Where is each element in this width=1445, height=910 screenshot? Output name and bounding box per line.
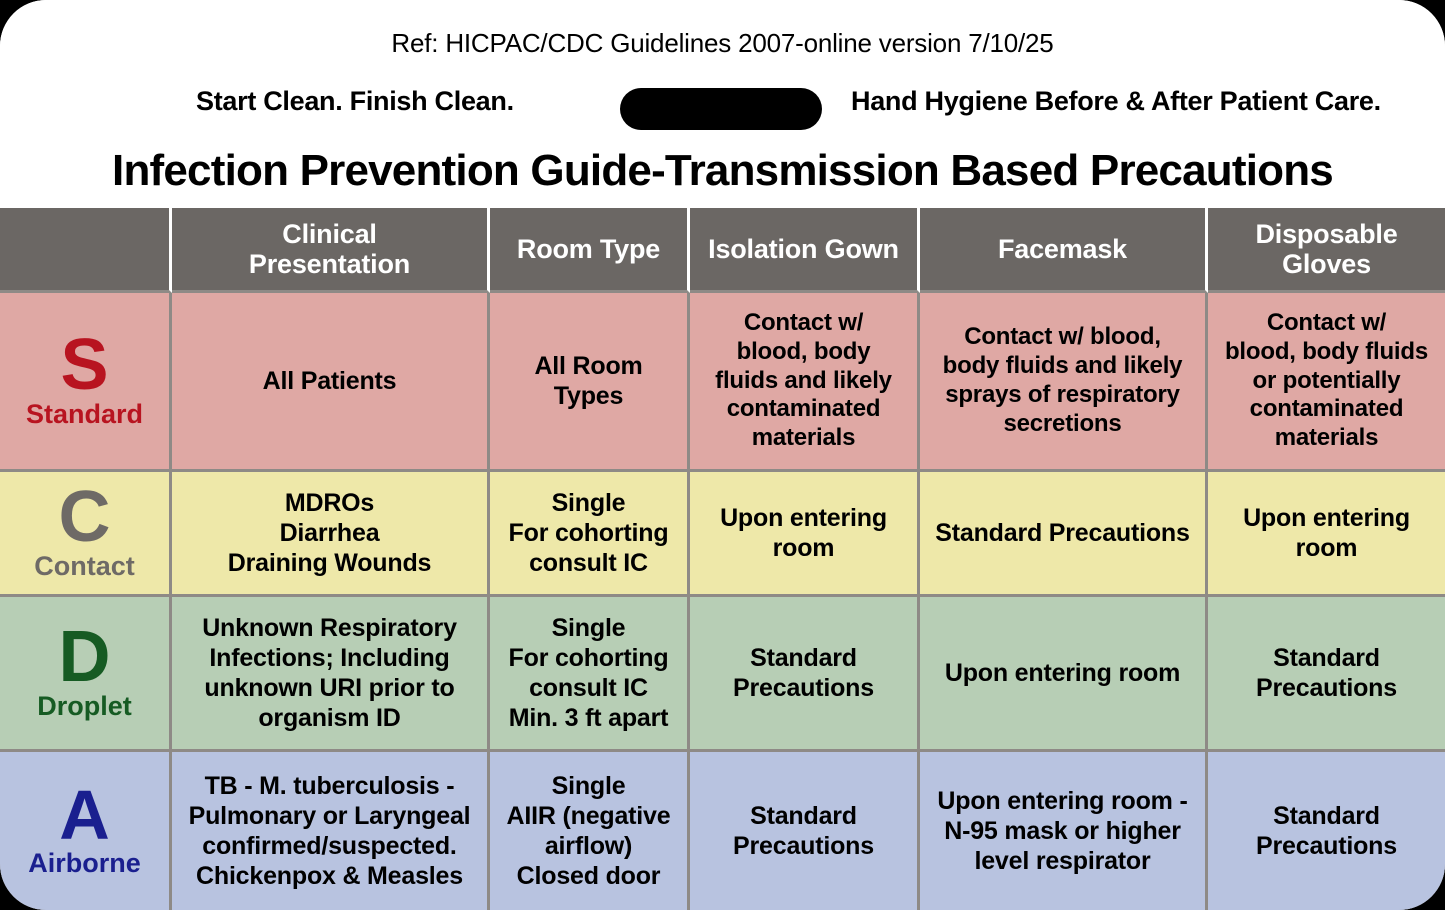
standard-letter: S (60, 332, 108, 398)
clinical-presentation-label-line1: Clinical (249, 219, 410, 249)
droplet-isolation-gown: StandardPrecautions (690, 597, 920, 752)
contact-room-type: SingleFor cohortingconsult IC (490, 472, 690, 597)
droplet-facemask: Upon entering room (920, 597, 1208, 752)
clinical-presentation-label-line2: Presentation (249, 249, 410, 279)
infection-prevention-card: Ref: HICPAC/CDC Guidelines 2007-online v… (0, 0, 1445, 910)
table-row-airborne-category: A Airborne (0, 752, 172, 910)
column-header-disposable-gloves: Disposable Gloves (1208, 208, 1445, 293)
isolation-gown-label: Isolation Gown (708, 234, 899, 264)
reference-line: Ref: HICPAC/CDC Guidelines 2007-online v… (0, 28, 1445, 59)
tagline-left: Start Clean. Finish Clean. (196, 86, 514, 117)
contact-label: Contact (34, 553, 135, 580)
droplet-label: Droplet (37, 693, 132, 720)
column-header-room-type: Room Type (490, 208, 690, 293)
facemask-label: Facemask (998, 234, 1127, 264)
disposable-gloves-label-line1: Disposable (1255, 219, 1397, 249)
page-title: Infection Prevention Guide-Transmission … (0, 146, 1445, 196)
redacted-logo-pill (620, 88, 822, 130)
droplet-clinical-presentation: Unknown RespiratoryInfections; Including… (172, 597, 490, 752)
contact-disposable-gloves: Upon enteringroom (1208, 472, 1445, 597)
room-type-label: Room Type (517, 234, 660, 264)
standard-clinical-presentation: All Patients (172, 293, 490, 472)
droplet-letter: D (59, 624, 111, 690)
airborne-label: Airborne (28, 850, 141, 877)
airborne-facemask: Upon entering room -N-95 mask or higherl… (920, 752, 1208, 910)
card-header: Ref: HICPAC/CDC Guidelines 2007-online v… (0, 0, 1445, 208)
tagline-right: Hand Hygiene Before & After Patient Care… (851, 86, 1381, 117)
airborne-isolation-gown: StandardPrecautions (690, 752, 920, 910)
contact-facemask: Standard Precautions (920, 472, 1208, 597)
contact-isolation-gown: Upon enteringroom (690, 472, 920, 597)
column-header-facemask: Facemask (920, 208, 1208, 293)
contact-clinical-presentation: MDROsDiarrheaDraining Wounds (172, 472, 490, 597)
tagline-row: Start Clean. Finish Clean. Hand Hygiene … (0, 86, 1445, 132)
airborne-room-type: SingleAIIR (negativeairflow)Closed door (490, 752, 690, 910)
standard-room-type: All RoomTypes (490, 293, 690, 472)
standard-label: Standard (26, 401, 143, 428)
column-header-clinical-presentation: Clinical Presentation (172, 208, 490, 293)
airborne-letter: A (59, 783, 110, 847)
table-row-standard-category: S Standard (0, 293, 172, 472)
table-row-droplet-category: D Droplet (0, 597, 172, 752)
standard-facemask: Contact w/ blood,body fluids and likelys… (920, 293, 1208, 472)
droplet-room-type: SingleFor cohortingconsult ICMin. 3 ft a… (490, 597, 690, 752)
column-header-category (0, 208, 172, 293)
droplet-disposable-gloves: StandardPrecautions (1208, 597, 1445, 752)
standard-disposable-gloves: Contact w/blood, body fluidsor potential… (1208, 293, 1445, 472)
table-row-contact-category: C Contact (0, 472, 172, 597)
airborne-disposable-gloves: StandardPrecautions (1208, 752, 1445, 910)
column-header-isolation-gown: Isolation Gown (690, 208, 920, 293)
airborne-clinical-presentation: TB - M. tuberculosis -Pulmonary or Laryn… (172, 752, 490, 910)
standard-isolation-gown: Contact w/blood, bodyfluids and likelyco… (690, 293, 920, 472)
disposable-gloves-label-line2: Gloves (1255, 249, 1397, 279)
precautions-table: Clinical Presentation Room Type Isolatio… (0, 208, 1445, 910)
contact-letter: C (59, 484, 111, 550)
